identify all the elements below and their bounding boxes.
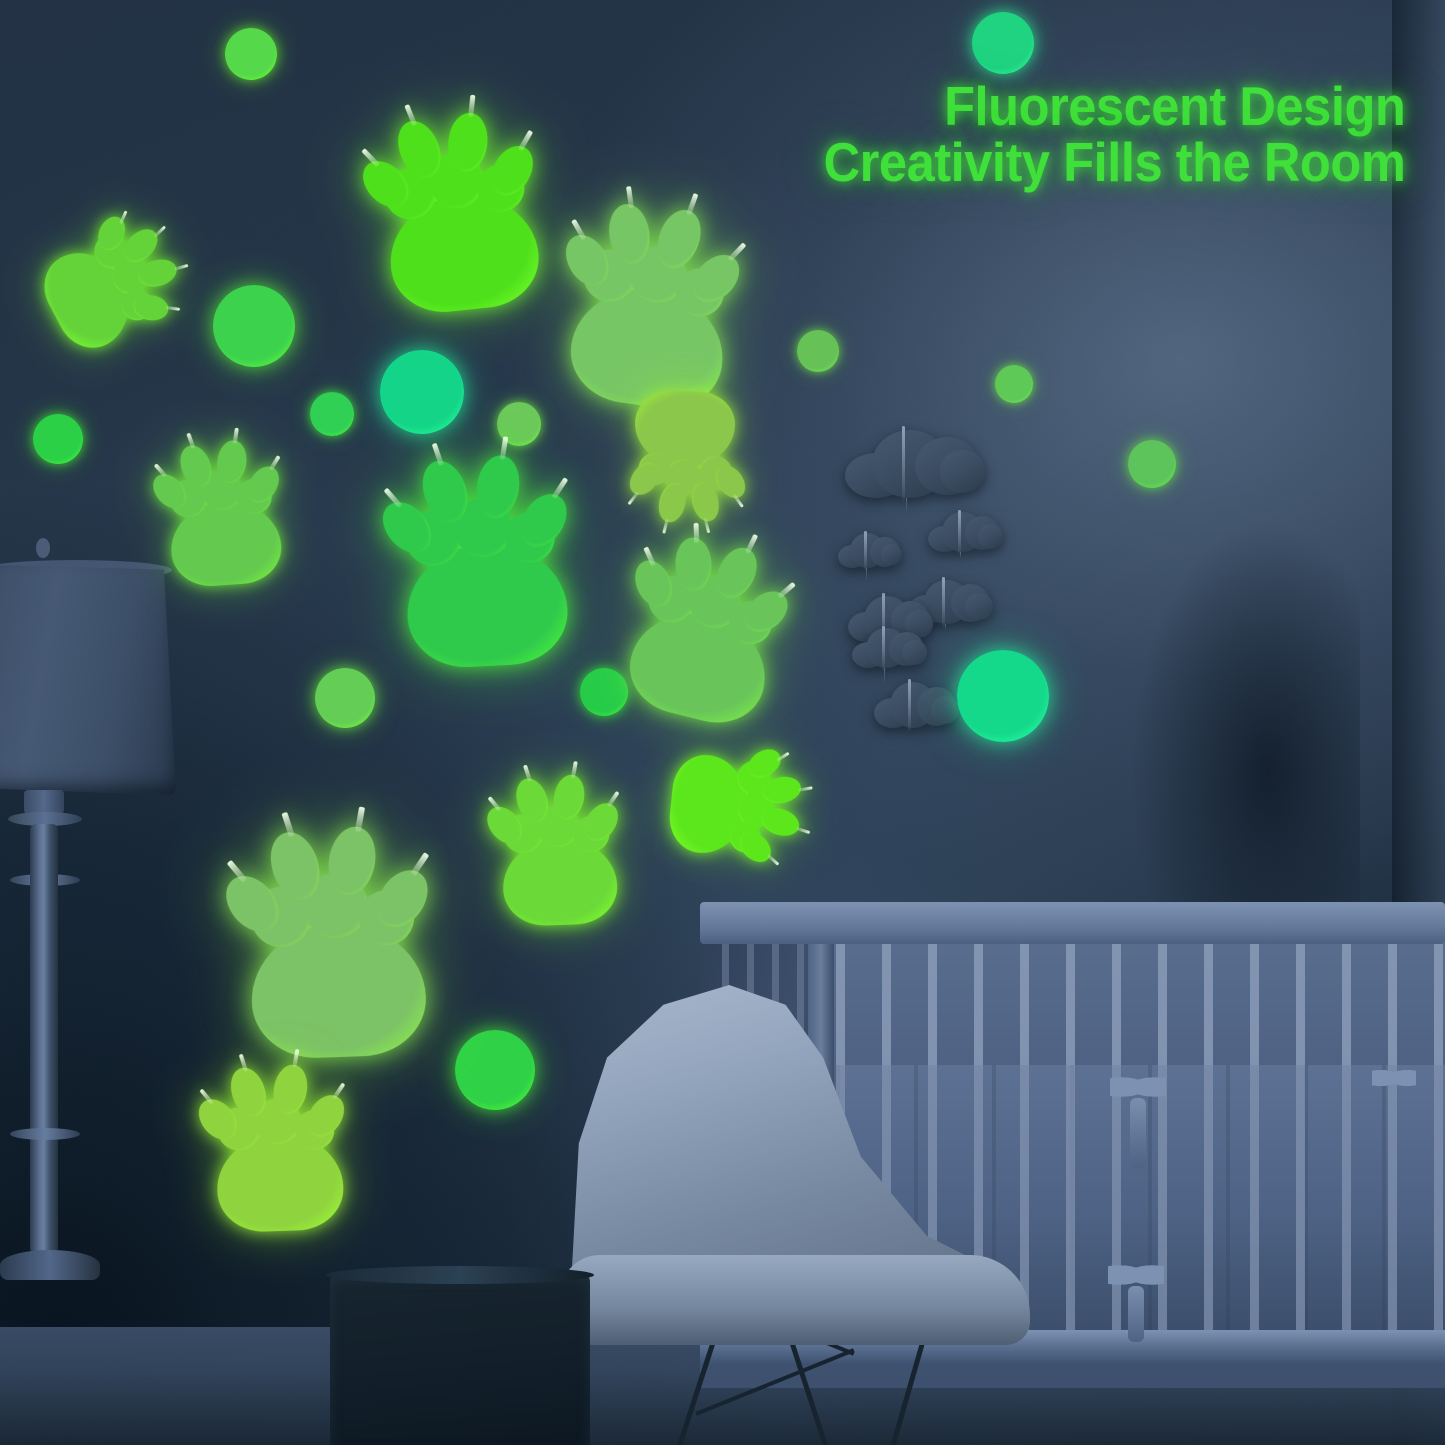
- cloud-3: [838, 533, 900, 568]
- chair-seat: [560, 1255, 1030, 1345]
- mobile-string: [945, 624, 946, 630]
- dot-9: [995, 365, 1033, 403]
- cloud-6: [852, 628, 924, 668]
- headline-line-1: Fluorescent Design: [944, 75, 1405, 137]
- crib-bow: [1372, 1064, 1416, 1092]
- crib-bow-tail: [1130, 1098, 1146, 1168]
- lamp-ring: [10, 1128, 80, 1140]
- paw-mid-lime: [481, 775, 636, 930]
- dot-4: [380, 350, 464, 434]
- paw-mid-left: [147, 439, 301, 593]
- headline-line-2: Creativity Fills the Room: [823, 134, 1405, 190]
- dot-7: [33, 414, 83, 464]
- dot-14: [455, 1030, 535, 1110]
- paw-big-lime: [352, 108, 567, 323]
- mobile-string: [884, 668, 885, 682]
- dot-8: [797, 330, 839, 372]
- paw-big-bottom-sage: [218, 828, 456, 1066]
- dot-11: [315, 668, 375, 728]
- paw-center-green: [375, 455, 596, 676]
- paw-claw-4: [766, 854, 779, 866]
- paw-claw-4: [727, 242, 746, 261]
- cloud-2: [928, 512, 1000, 552]
- lamp-neck: [24, 790, 64, 814]
- mobile-string: [906, 498, 907, 512]
- paw-pad-notch: [673, 385, 695, 404]
- dot-10: [1128, 440, 1176, 488]
- lamp-finial: [36, 538, 50, 558]
- headline: Fluorescent Design Creativity Fills the …: [823, 78, 1405, 190]
- crib-bow-tail: [1128, 1286, 1144, 1342]
- dot-3: [213, 285, 295, 367]
- basket-body: [330, 1272, 590, 1445]
- cloud-7: [874, 682, 956, 728]
- mobile-string: [960, 552, 961, 558]
- nursery-scene: Fluorescent Design Creativity Fills the …: [0, 0, 1445, 1445]
- paw-lime-rotated: [662, 736, 805, 879]
- lamp-stem: [30, 824, 58, 1254]
- paw-inverted-small: [616, 386, 753, 523]
- paw-claw-4: [627, 491, 639, 505]
- dot-13: [957, 650, 1049, 742]
- lamp-shade: [0, 565, 176, 795]
- dot-1: [225, 28, 277, 80]
- dot-2: [972, 12, 1034, 74]
- mobile-string: [866, 568, 867, 580]
- basket-rim: [326, 1266, 594, 1284]
- paw-bottom-small: [193, 1065, 365, 1237]
- lamp-base: [0, 1250, 100, 1280]
- wall-shadow: [1130, 520, 1360, 940]
- cloud-1: [845, 430, 980, 498]
- paw-claw-4: [777, 582, 795, 598]
- crib-top-rail: [700, 902, 1445, 944]
- dot-5: [310, 392, 354, 436]
